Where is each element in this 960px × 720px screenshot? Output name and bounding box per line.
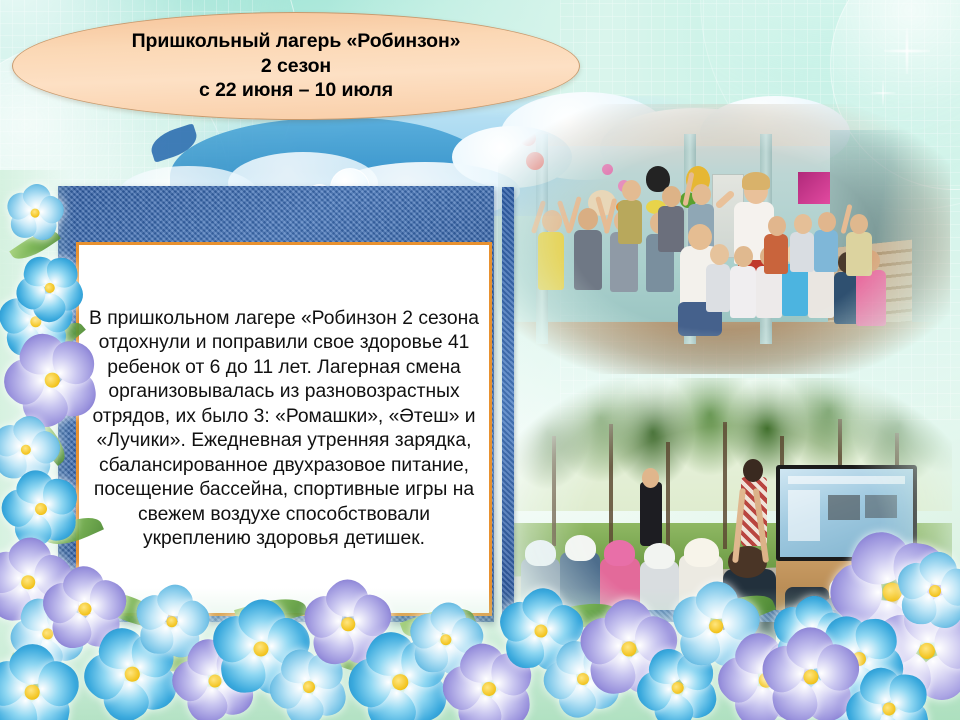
title-line-1: Пришкольный лагерь «Робинзон» (132, 29, 461, 54)
right-frame-strip (502, 187, 514, 622)
child-head (662, 186, 681, 207)
info-text-card-inner: В пришкольном лагере «Робинзон 2 сезона … (76, 242, 492, 616)
tree-trunk (609, 424, 613, 546)
tree-trunk (552, 436, 556, 546)
flower-icon (906, 562, 960, 620)
teacher-hair (742, 172, 770, 190)
title-ellipse: Пришкольный лагерь «Робинзон» 2 сезон с … (12, 12, 580, 120)
child-head (710, 244, 729, 265)
child-figure (764, 234, 788, 274)
flower-icon (459, 659, 518, 718)
wall-decor-icon (602, 164, 613, 175)
child-hat (565, 535, 596, 561)
child-head (818, 212, 836, 232)
child-head (794, 214, 812, 234)
wall-poster (798, 172, 830, 204)
info-text-card: В пришкольном лагере «Робинзон 2 сезона … (58, 186, 494, 622)
child-figure (846, 232, 872, 276)
child-figure (856, 270, 886, 326)
child-head (734, 246, 753, 267)
title-line-3: с 22 июня – 10 июля (199, 78, 393, 103)
flower-icon (24, 262, 77, 315)
flower-icon (859, 679, 918, 720)
photo-group-indoor (498, 104, 950, 374)
flower-icon (58, 582, 113, 637)
sparkle-icon (870, 80, 895, 105)
tree-trunk (666, 442, 670, 546)
child-figure (658, 206, 684, 252)
flower-icon (14, 192, 56, 234)
flower-icon (19, 347, 85, 413)
tree-trunk (723, 422, 727, 550)
child-figure (538, 232, 564, 290)
title-line-2: 2 сезон (261, 54, 331, 79)
wall-decor-icon (526, 152, 544, 170)
child-head (692, 184, 711, 205)
child-figure (618, 200, 642, 244)
flower-icon (778, 644, 844, 710)
child-head (542, 210, 562, 232)
child-figure (814, 230, 838, 272)
hall-floor (498, 322, 950, 374)
child-figure (790, 232, 814, 272)
child-head (622, 180, 641, 201)
wall-decor-icon (520, 130, 536, 146)
child-figure (706, 264, 730, 312)
slide-canvas: В пришкольном лагере «Робинзон 2 сезона … (0, 0, 960, 720)
tv-ui-toolbar (788, 476, 905, 484)
flower-icon (0, 424, 51, 475)
child-hat (525, 540, 556, 566)
flower-icon (648, 658, 707, 717)
tv-ui-panel (788, 490, 820, 541)
sparkle-icon (884, 28, 930, 74)
child-figure (574, 230, 602, 290)
flower-icon (144, 594, 199, 649)
flower-icon (319, 595, 378, 654)
camp-description-text: В пришкольном лагере «Робинзон 2 сезона … (89, 307, 479, 552)
tv-ui-thumbnail (865, 495, 897, 518)
child-figure (808, 266, 834, 318)
child-hat (604, 540, 635, 566)
tv-ui-thumbnail (828, 495, 860, 520)
child-hat (684, 538, 719, 567)
child-head (768, 216, 786, 236)
child-figure (730, 266, 756, 318)
flower-icon (16, 484, 67, 535)
child-head (850, 214, 868, 234)
photo-group-indoor-content (498, 104, 950, 374)
child-head (578, 208, 598, 230)
adult-head (688, 224, 712, 250)
presenter-head (743, 459, 763, 482)
flower-icon (281, 659, 338, 716)
flower-icon (0, 660, 64, 720)
child-hat (644, 543, 675, 569)
presenter-figure (640, 482, 662, 546)
